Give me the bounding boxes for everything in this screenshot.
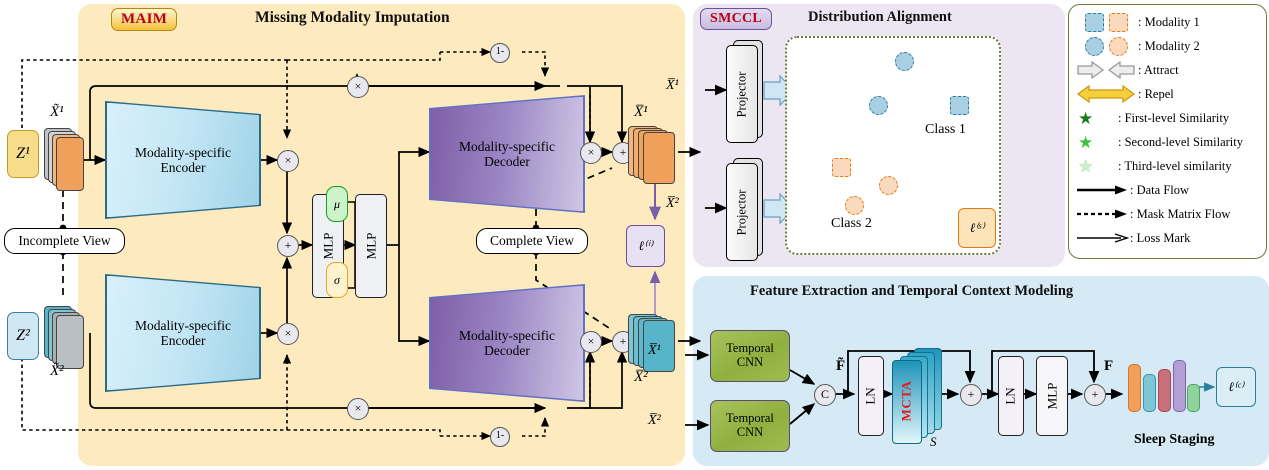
legend-item-modality-2: : Modality 2 (1074, 34, 1262, 58)
add-op-latent: + (277, 235, 299, 257)
legend-item-second-level-similarity: ★ : Second-level Similarity (1074, 130, 1262, 154)
mlp-1-label: MLP (320, 233, 336, 260)
decoder-1-line2: Decoder (484, 154, 530, 169)
imputation-loss-label: ℓ⁽ⁱ⁾ (638, 238, 652, 254)
sigma-label: σ (334, 273, 340, 288)
layernorm-1: LN (858, 356, 884, 436)
legend-key-mask-matrix-flow (1074, 208, 1130, 220)
legend-text-modality-2: : Modality 2 (1138, 39, 1200, 54)
legend-text-loss-mark: : Loss Mark (1130, 231, 1190, 246)
decoder-2-line1: Modality-specific (459, 328, 555, 343)
f-out-label: F⃔ (1104, 358, 1125, 375)
maim-tag: MAIM (111, 8, 177, 31)
alignment-loss-box: ℓ⁽ˢ⁾ (958, 208, 996, 248)
multiply-op-dec1: × (580, 142, 602, 164)
f-tilde-label: F̃ (836, 358, 845, 375)
modality1-point-class1 (950, 96, 969, 115)
attract-arrows-icon (1076, 61, 1136, 79)
multiply-op-bottom: × (347, 398, 369, 420)
smccl-title: Distribution Alignment (808, 9, 952, 26)
one-minus-op-bottom: 1- (490, 427, 510, 447)
sleep-staging-bars (1128, 360, 1198, 414)
modality2-orange-circle-icon (1109, 37, 1128, 56)
fetcm-input-2-label: X̅² (648, 413, 661, 429)
legend-item-modality-1: : Modality 1 (1074, 10, 1262, 34)
alignment-loss-label: ℓ⁽ˢ⁾ (970, 220, 985, 236)
legend-item-data-flow: : Data Flow (1074, 178, 1262, 202)
repel-double-arrow-icon (1076, 84, 1136, 104)
one-minus-op-top: 1- (490, 43, 510, 63)
legend-list: : Modality 1 : Modality 2 : Attract : Re… (1074, 10, 1262, 250)
mask-matrix-flow-arrow-icon (1075, 208, 1129, 220)
modality-specific-encoder-1: Modality-specific Encoder (105, 101, 261, 219)
legend-key-modality-2 (1074, 37, 1138, 56)
mcta-stack: MCTA (892, 348, 944, 442)
modality-specific-decoder-1: Modality-specific Decoder (429, 95, 585, 213)
encoder-1-line1: Modality-specific (135, 145, 231, 160)
decoder-2-line2: Decoder (484, 343, 530, 358)
legend-key-first-level-similarity: ★ (1074, 110, 1118, 127)
modality1-orange-square-icon (1109, 13, 1128, 32)
mlp-block: MLP (1036, 356, 1068, 436)
temporal-cnn-2: Temporal CNN (710, 400, 790, 452)
legend-text-repel: : Repel (1138, 87, 1174, 102)
layernorm-2: LN (998, 356, 1024, 436)
x-bar-1-label: X̅¹ (634, 104, 648, 121)
x-tilde-1-stack (44, 128, 84, 192)
concat-op: C (814, 384, 836, 406)
fetcm-input-1-label: X̅¹ (648, 343, 661, 359)
multiply-op-enc1: × (277, 150, 299, 172)
legend-item-third-level-similarity: ★ : Third-level similarity (1074, 154, 1262, 178)
multiply-op-enc2: × (277, 323, 299, 345)
legend-item-first-level-similarity: ★ : First-level Similarity (1074, 106, 1262, 130)
class-2-label: Class 2 (831, 216, 872, 232)
maim-title: Missing Modality Imputation (255, 9, 450, 27)
mcta-label: MCTA (898, 381, 914, 422)
encoder-2-line1: Modality-specific (135, 318, 231, 333)
s-label: S (930, 434, 937, 450)
fetcm-title: Feature Extraction and Temporal Context … (750, 283, 1073, 300)
x-bar-1-stack (628, 126, 680, 184)
legend-item-repel: : Repel (1074, 82, 1262, 106)
legend-text-attract: : Attract (1138, 63, 1179, 78)
modality2-point-class2-b (845, 196, 864, 215)
multiply-op-dec2: × (580, 331, 602, 353)
complete-view-label: Complete View (490, 233, 574, 249)
projector-2: Projector (726, 163, 758, 261)
layernorm-2-label: LN (1003, 387, 1019, 404)
legend-item-mask-matrix-flow: : Mask Matrix Flow (1074, 202, 1262, 226)
legend-key-repel (1074, 84, 1138, 104)
z1-box: Z¹ (7, 130, 39, 178)
projector-1: Projector (726, 45, 758, 143)
smccl-tag: SMCCL (700, 8, 772, 30)
modality1-blue-square-icon (1085, 13, 1104, 32)
x-tilde-1-label: X̃¹ (50, 104, 64, 121)
legend-key-attract (1074, 61, 1138, 79)
mu-node: μ (326, 186, 348, 222)
modality2-blue-circle-icon (1085, 37, 1104, 56)
legend-key-modality-1 (1074, 13, 1138, 32)
imputation-loss-box: ℓ⁽ⁱ⁾ (626, 225, 665, 267)
modality1-point-class2 (832, 158, 851, 177)
x-tilde-2-stack (44, 306, 84, 370)
z2-label: Z² (16, 327, 30, 345)
mlp-block-label: MLP (1044, 383, 1060, 410)
z1-label: Z¹ (16, 145, 30, 163)
modality2-point-class2-a (879, 176, 898, 195)
legend-key-second-level-similarity: ★ (1074, 134, 1118, 151)
incomplete-view-label: Incomplete View (18, 233, 110, 249)
legend-text-first-level-similarity: : First-level Similarity (1118, 111, 1229, 126)
loss-mark-arrow-icon (1075, 232, 1129, 244)
legend-text-modality-1: : Modality 1 (1138, 15, 1200, 30)
legend-key-data-flow (1074, 184, 1130, 196)
smccl-input-2-label: X̅² (666, 196, 679, 212)
add-op-residual-1: + (960, 384, 982, 406)
second-level-star-icon: ★ (1078, 134, 1093, 151)
legend-item-loss-mark: : Loss Mark (1074, 226, 1262, 250)
add-op-residual-2: + (1084, 384, 1106, 406)
mlp-box-2: MLP (355, 194, 387, 298)
third-level-star-icon: ★ (1078, 158, 1093, 175)
encoder-2-line2: Encoder (161, 333, 206, 348)
complete-view-box: Complete View (476, 228, 588, 254)
first-level-star-icon: ★ (1078, 110, 1093, 127)
modality2-point-class1-a (895, 52, 914, 71)
projector-1-label: Projector (735, 71, 750, 117)
x-bar-2-label: X̅² (634, 369, 648, 386)
projector-2-label: Projector (735, 189, 750, 235)
x-tilde-2-label: X̃² (50, 363, 64, 380)
encoder-1-line2: Encoder (161, 160, 206, 175)
temporal-cnn-1: Temporal CNN (710, 330, 790, 382)
mlp-2-label: MLP (363, 233, 379, 260)
legend-text-second-level-similarity: : Second-level Similarity (1118, 135, 1243, 150)
class-1-label: Class 1 (925, 122, 966, 138)
decoder-1-line1: Modality-specific (459, 139, 555, 154)
modality-specific-encoder-2: Modality-specific Encoder (105, 274, 261, 392)
temporal-cnn-1-line2: CNN (726, 356, 774, 370)
temporal-cnn-2-line1: Temporal (726, 412, 774, 426)
mu-label: μ (334, 197, 340, 212)
layernorm-1-label: LN (863, 387, 879, 404)
multiply-op-top: × (347, 76, 369, 98)
modality2-point-class1-b (869, 96, 888, 115)
z2-box: Z² (7, 312, 39, 360)
sleep-staging-label: Sleep Staging (1134, 432, 1215, 448)
legend-item-attract: : Attract (1074, 58, 1262, 82)
sigma-node: σ (326, 262, 348, 298)
temporal-cnn-1-line1: Temporal (726, 342, 774, 356)
smccl-input-1-label: X̅¹ (666, 78, 679, 94)
legend-key-third-level-similarity: ★ (1074, 158, 1118, 175)
legend-text-mask-matrix-flow: : Mask Matrix Flow (1130, 207, 1230, 222)
legend-text-data-flow: : Data Flow (1130, 183, 1189, 198)
classification-loss-label: ℓ⁽ᶜ⁾ (1228, 379, 1243, 395)
legend-text-third-level-similarity: : Third-level similarity (1118, 159, 1232, 174)
modality-specific-decoder-2: Modality-specific Decoder (429, 284, 585, 402)
legend-key-loss-mark (1074, 232, 1130, 244)
data-flow-arrow-icon (1075, 184, 1129, 196)
temporal-cnn-2-line2: CNN (726, 426, 774, 440)
classification-loss-box: ℓ⁽ᶜ⁾ (1216, 367, 1256, 407)
incomplete-view-box: Incomplete View (4, 228, 125, 254)
